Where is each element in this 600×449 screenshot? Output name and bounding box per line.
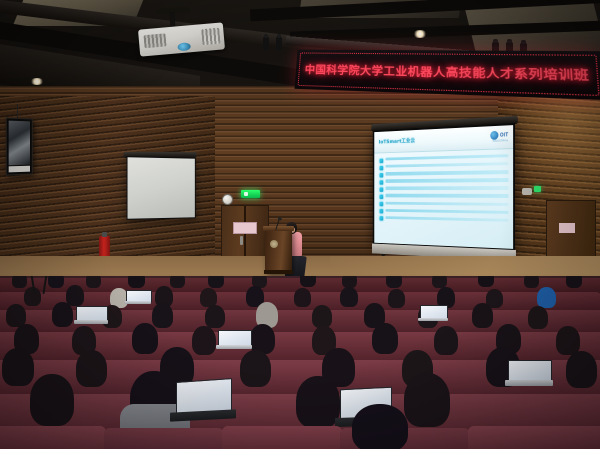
attendee — [205, 305, 225, 328]
attendee — [386, 276, 402, 288]
bullet-square-icon — [379, 195, 383, 200]
attendee-front — [296, 376, 340, 428]
attendee — [86, 276, 101, 288]
bullet-square-icon — [379, 187, 383, 191]
attendee — [2, 348, 34, 386]
projector-vent-right — [201, 28, 220, 46]
attendee — [170, 276, 185, 288]
attendee — [294, 288, 311, 307]
attendee — [66, 285, 84, 306]
audience-area — [0, 276, 600, 449]
attendee — [566, 276, 582, 288]
attendee — [152, 303, 173, 328]
slide-logo-subtext: INDUSTRIAL — [493, 139, 509, 143]
downlight-6 — [413, 30, 427, 38]
podium-base — [264, 270, 293, 274]
slide-bullet-item — [379, 216, 508, 224]
slide-title: IoTSmart工业云 — [379, 137, 415, 146]
slide-bullet-item — [379, 186, 508, 191]
bullet-square-icon — [379, 180, 383, 185]
attendee — [528, 306, 548, 329]
logo-mark-icon — [490, 131, 498, 140]
screen-frame: IoTSmart工业云 OIT INDUSTRIAL — [373, 123, 515, 251]
attendee — [12, 276, 27, 288]
attendee — [48, 276, 64, 288]
bullet-square-icon — [379, 216, 383, 221]
attendee — [128, 276, 145, 288]
laptop-foreground[interactable] — [176, 380, 232, 422]
attendee — [472, 303, 493, 328]
slide-bullet-item — [379, 154, 508, 163]
attendee — [208, 276, 224, 288]
right-wall-light-glow — [500, 88, 600, 208]
attendee — [300, 276, 316, 287]
laptop[interactable] — [508, 360, 550, 386]
bullet-square-icon — [379, 209, 383, 214]
picture-image — [9, 121, 30, 166]
picture-caption-plate — [9, 166, 30, 173]
attendee — [312, 305, 332, 328]
exit-sign-icon — [241, 190, 260, 198]
seat-row-7-far-right[interactable] — [468, 426, 600, 449]
attendee — [524, 276, 539, 288]
slide-bullet-item — [379, 209, 508, 216]
door-handle-icon[interactable] — [240, 236, 243, 245]
attendee — [76, 350, 107, 387]
seat-row-7-midr[interactable] — [222, 426, 342, 449]
slide-bullet-item — [379, 194, 508, 200]
projector-lens — [177, 42, 191, 51]
slide-bullet-list — [379, 154, 508, 226]
downlight-1 — [30, 78, 44, 85]
attendee — [478, 276, 494, 287]
attendee-front — [30, 374, 74, 426]
attendee — [240, 350, 271, 387]
podium-emblem-icon — [270, 240, 278, 248]
exit-sign-right-icon — [534, 186, 541, 192]
slide-bullet-item — [379, 178, 508, 184]
bullet-square-icon — [379, 158, 383, 163]
attendee — [566, 351, 597, 388]
wall-speaker-right-icon — [522, 188, 532, 195]
attendee-closest — [352, 404, 408, 449]
attendee — [52, 302, 73, 327]
auditorium-photo: 中国科学院大学工业机器人高技能人才系列培训班 IoTSmart工业云 OIT I… — [0, 0, 600, 449]
slide-bullet-item — [379, 170, 508, 177]
fire-extinguisher-icon — [99, 236, 110, 258]
wall-speaker-icon — [222, 194, 233, 205]
door-notice-sign — [233, 222, 257, 234]
laptop[interactable] — [218, 330, 250, 349]
spotlight-4 — [263, 37, 269, 50]
podium-top-surface — [263, 226, 294, 231]
attendee — [132, 323, 158, 354]
bullet-square-icon — [379, 165, 383, 170]
attendee-blue-shirt — [537, 287, 556, 308]
projected-slide: IoTSmart工业云 OIT INDUSTRIAL — [374, 125, 513, 249]
slide-logo-text: OIT — [500, 132, 508, 138]
attendee-front — [404, 373, 450, 427]
slide-bullet-item — [379, 162, 508, 170]
podium — [265, 229, 292, 273]
projection-screen-assembly: IoTSmart工业云 OIT INDUSTRIAL — [373, 121, 515, 261]
laptop[interactable] — [126, 290, 150, 304]
attendee — [340, 287, 358, 307]
door-notice-sign-right — [559, 223, 575, 233]
picture-hook — [17, 104, 18, 119]
seat-row-7-left[interactable] — [0, 426, 106, 449]
bullet-square-icon — [379, 202, 383, 207]
laptop[interactable] — [76, 306, 106, 324]
framed-picture — [6, 117, 33, 175]
attendee — [434, 326, 458, 355]
bullet-square-icon — [379, 173, 383, 178]
seat-row-7-mid[interactable] — [104, 428, 224, 449]
slide-bullet-item — [379, 201, 508, 208]
attendee — [372, 323, 398, 354]
projector-vent-left — [143, 33, 166, 48]
attendee — [388, 289, 405, 308]
spotlight-5 — [276, 37, 282, 50]
laptop[interactable] — [420, 305, 446, 321]
attendee — [192, 326, 216, 355]
secondary-projection-screen — [127, 156, 196, 220]
